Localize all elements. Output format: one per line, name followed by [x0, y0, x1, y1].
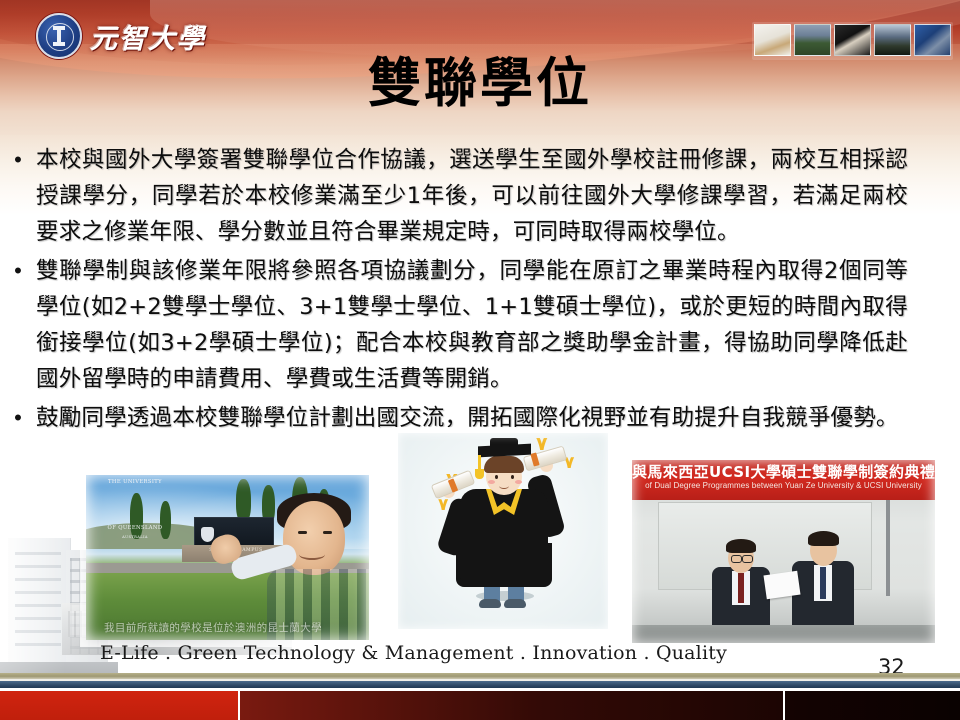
university-tagline: E-Life . Green Technology & Management .… — [100, 642, 727, 664]
grad-cheek-left — [488, 480, 495, 484]
footer-dark-block-2 — [783, 691, 960, 720]
bullet-marker: • — [0, 142, 36, 178]
list-item: • 雙聯學制與該修業年限將參照各項協議劃分，同學能在原訂之畢業時程內取得2個同等… — [0, 253, 960, 397]
strip-thumb-1 — [754, 24, 791, 56]
footer-dark-block-1 — [238, 691, 783, 720]
person-right-tie — [820, 567, 826, 599]
strip-thumb-3 — [834, 24, 871, 56]
person-right-hair — [808, 531, 839, 546]
grad-eye-right — [511, 475, 514, 479]
grad-eye-left — [495, 475, 498, 479]
footer-seam-1 — [238, 691, 240, 720]
strip-thumb-5 — [914, 24, 951, 56]
uq-sign-line3: AUSTRALIA — [104, 534, 166, 541]
graduate-illustration: ٧ ٧ ٧ ٧ — [398, 433, 608, 629]
grad-shoe-left — [479, 599, 501, 608]
ceremony-banner-chinese: 與馬來西亞UCSI大學碩士雙聯學制簽約典禮 — [632, 461, 935, 482]
uq-sign-line2: OF QUEENSLAND — [104, 525, 166, 532]
person-left-tie — [738, 573, 744, 603]
grad-hair — [484, 456, 524, 473]
bullet-list: • 本校與國外大學簽署雙聯學位合作協議，選送學生至國外學校註冊修課，兩校互相採認… — [0, 142, 960, 439]
ceremony-pole — [886, 500, 890, 596]
signed-document — [763, 571, 800, 599]
uq-crest-icon — [201, 527, 214, 542]
uq-student-figure — [243, 491, 369, 640]
uq-student-eye-left — [298, 531, 307, 534]
uq-sign-line1: THE UNIVERSITY — [104, 479, 166, 486]
person-left-glasses-icon-2 — [742, 555, 753, 563]
footer-seam-2 — [783, 691, 785, 720]
bullet-text: 本校與國外大學簽署雙聯學位合作協議，選送學生至國外學校註冊修課，兩校互相採認授課… — [36, 142, 960, 250]
grad-shoe-right — [504, 599, 526, 608]
bullet-marker: • — [0, 253, 36, 289]
bullet-text: 雙聯學制與該修業年限將參照各項協議劃分，同學能在原訂之畢業時程內取得2個同等學位… — [36, 253, 960, 397]
person-left-hair — [726, 539, 756, 553]
uq-student-mouth — [299, 549, 325, 560]
grad-cheek-right — [515, 480, 522, 484]
grad-mouth — [499, 483, 509, 489]
list-item: • 本校與國外大學簽署雙聯學位合作協議，選送學生至國外學校註冊修課，兩校互相採認… — [0, 142, 960, 250]
uq-student-eye-right — [323, 531, 332, 534]
slide: 元智大學 雙聯學位 • 本校與國外大學簽署雙聯學位合作協議，選送學生至國外學校註… — [0, 0, 960, 720]
grad-tassel — [478, 455, 481, 471]
person-left-glasses-icon — [731, 555, 742, 563]
mortarboard-icon — [478, 444, 531, 458]
ceremony-table — [632, 625, 935, 643]
page-title: 雙聯學位 — [0, 57, 960, 110]
university-logo-text: 元智大學 — [90, 17, 206, 56]
header-photo-strip — [752, 22, 953, 60]
university-seal-icon — [36, 13, 82, 59]
strip-thumb-2 — [794, 24, 831, 56]
sparkle-icon-left-2: ٧ — [438, 497, 448, 514]
uq-photo-caption: 我目前所就讀的學校是位於澳洲的昆士蘭大學 — [104, 620, 354, 635]
footer-red-block — [0, 691, 238, 720]
signing-ceremony-photo: 與馬來西亞UCSI大學碩士雙聯學制簽約典禮 of Dual Degree Pro… — [632, 460, 935, 643]
uq-campus-photo: THE UNIVERSITY OF QUEENSLAND AUSTRALIA S… — [86, 475, 369, 640]
uq-tree-1 — [130, 493, 143, 539]
ceremony-banner-english: of Dual Degree Programmes between Yuan Z… — [632, 481, 935, 490]
strip-thumb-4 — [874, 24, 911, 56]
footer-blue-bar — [0, 681, 960, 688]
university-logo: 元智大學 — [36, 12, 246, 60]
